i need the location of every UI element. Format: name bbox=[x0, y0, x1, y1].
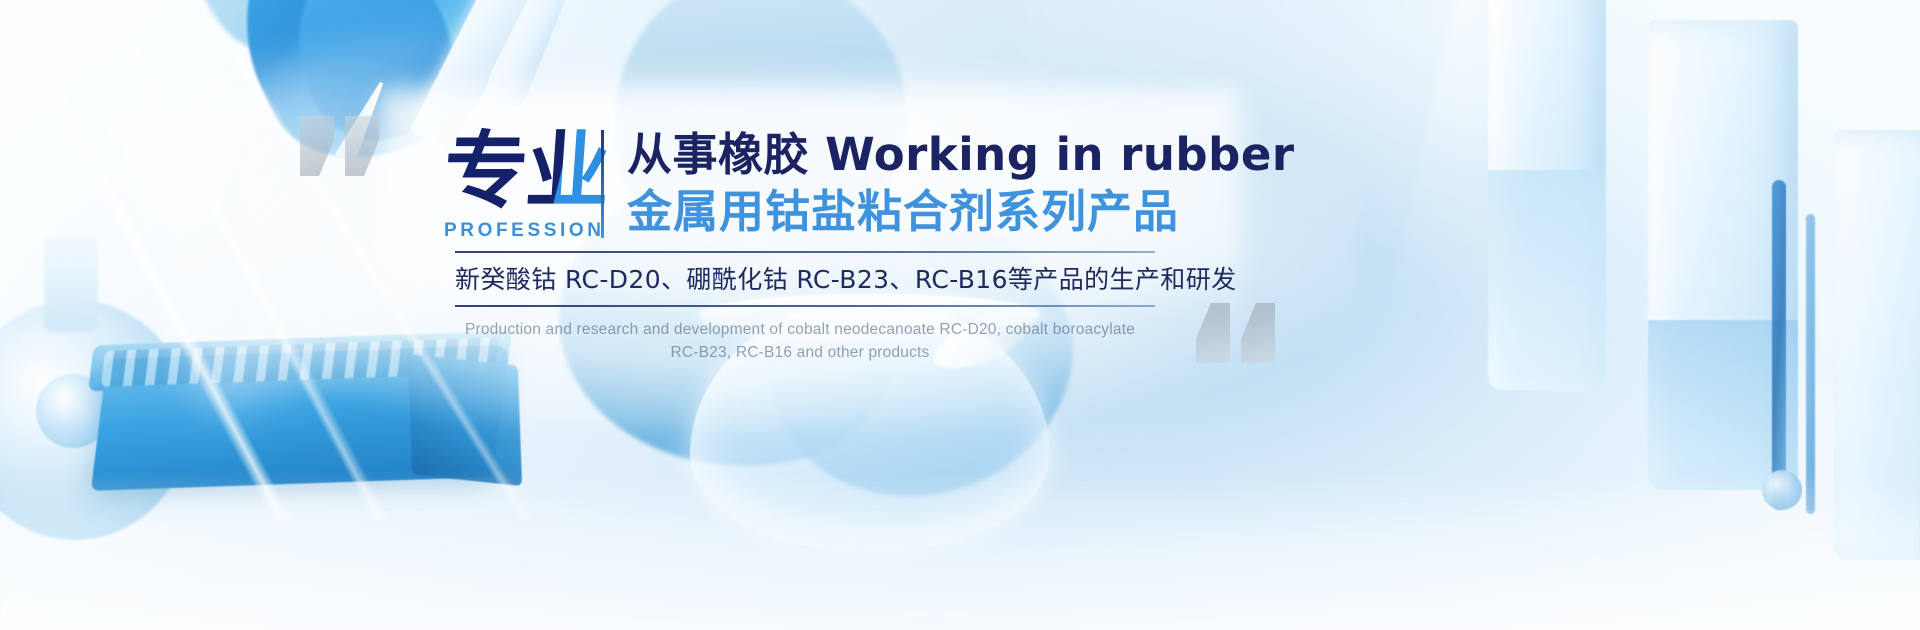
subtitle-english: Production and research and development … bbox=[450, 318, 1150, 364]
logo-char-zhuan: 专 bbox=[441, 128, 529, 214]
close-quote-icon bbox=[1196, 303, 1275, 363]
hero-banner: 专业 PROFESSION 从事橡胶 Working in rubber 金属用… bbox=[0, 0, 1920, 630]
headline-line-1: 从事橡胶 Working in rubber bbox=[627, 127, 1295, 183]
subtitle-english-line-1: Production and research and development … bbox=[465, 321, 1135, 338]
headline-block: 从事橡胶 Working in rubber 金属用钴盐粘合剂系列产品 bbox=[627, 127, 1295, 241]
subtitle-chinese: 新癸酸钴 RC-D20、硼酰化钴 RC-B23、RC-B16等产品的生产和研发 bbox=[455, 260, 1155, 300]
profession-logo: 专业 PROFESSION bbox=[444, 128, 596, 242]
subtitle-english-line-2: RC-B23, RC-B16 and other products bbox=[450, 341, 1150, 364]
open-quote-icon bbox=[300, 116, 379, 176]
divider-line-top bbox=[455, 251, 1155, 253]
divider-line-bottom bbox=[455, 305, 1155, 307]
logo-english-label: PROFESSION bbox=[444, 220, 596, 242]
vertical-divider bbox=[601, 130, 604, 238]
headline-line-2: 金属用钴盐粘合剂系列产品 bbox=[627, 183, 1295, 241]
banner-content: 专业 PROFESSION 从事橡胶 Working in rubber 金属用… bbox=[0, 0, 1920, 630]
logo-char-ye: 业 bbox=[523, 128, 611, 214]
logo-chinese-characters: 专业 bbox=[444, 128, 596, 214]
